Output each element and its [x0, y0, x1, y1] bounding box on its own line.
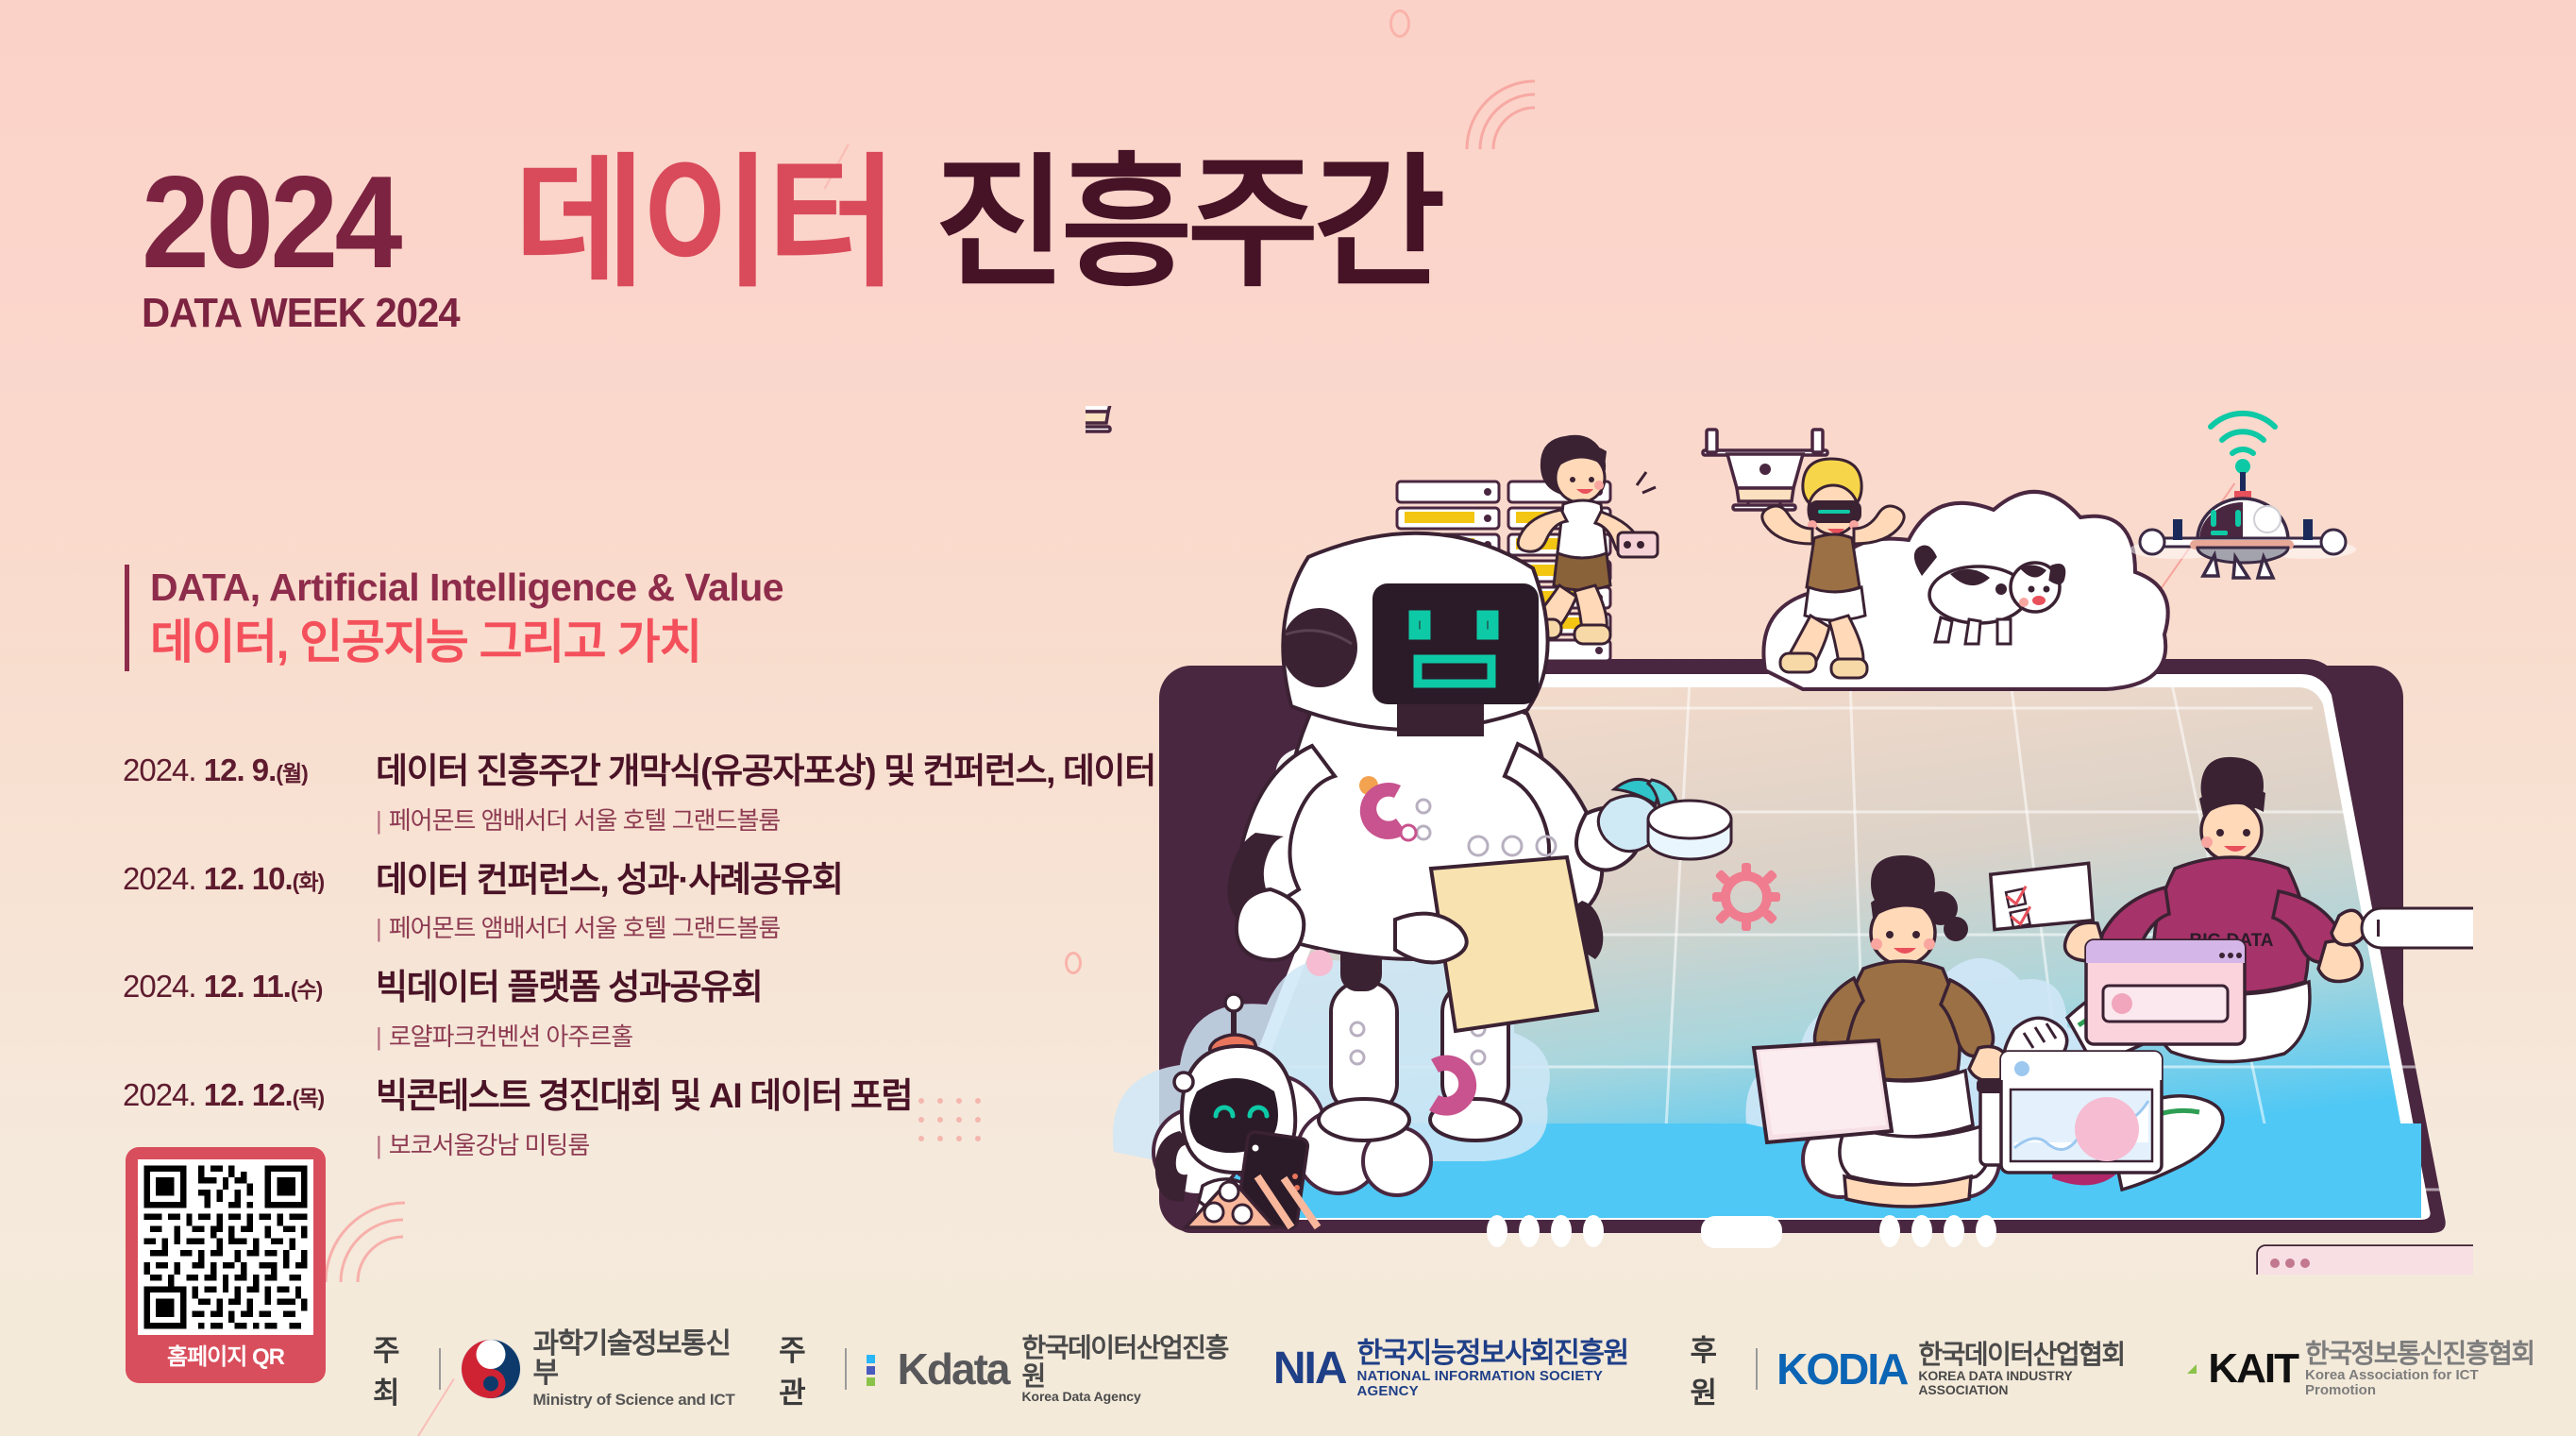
footer-organizer-role: 주관 [779, 1326, 830, 1411]
schedule-date-year: 2024. [123, 861, 204, 896]
footer-sponsor-group: 후원 KODIA 한국데이터산업협회 KOREA DATA INDUSTRY A… [1691, 1326, 2576, 1411]
schedule-date-dow: (목) [293, 1086, 324, 1110]
cloud-disk-icon [1648, 801, 1731, 859]
tablet-controls[interactable] [1487, 1215, 1996, 1248]
footer-organizer-group: 주관 Kdata 한국데이터산업진흥원 Korea Data Agency NI… [779, 1326, 1690, 1411]
schedule-date: 2024. 12. 9.(월) [123, 751, 376, 788]
logo-kait-wordmark: KAIT [2208, 1345, 2298, 1393]
schedule-date-day: 11. [252, 969, 291, 1004]
venue-bar-icon: | [376, 914, 381, 942]
schedule-date-dow: (화) [293, 870, 324, 894]
logo-nia-wordmark: NIA [1273, 1343, 1346, 1394]
logo-mosict[interactable]: 과학기술정보통신부 Ministry of Science and ICT [460, 1329, 748, 1410]
schedule-date-day: 12. [252, 1077, 293, 1112]
poster-canvas: 2024 DATA WEEK 2024 데이터 진흥주간 DATA, Artif… [0, 0, 2576, 1436]
logo-nia[interactable]: NIA 한국지능정보사회진흥원 NATIONAL INFORMATION SOC… [1273, 1339, 1658, 1399]
footer-divider [439, 1348, 441, 1390]
schedule-date-month: 12. [204, 969, 252, 1004]
taegeuk-icon [460, 1338, 522, 1400]
footer-sponsor-role: 후원 [1691, 1326, 1742, 1411]
footer-divider [1756, 1348, 1758, 1390]
footer-host-role: 주최 [373, 1326, 424, 1411]
subtitle-english: DATA, Artificial Intelligence & Value [150, 565, 783, 610]
logo-kodia[interactable]: KODIA 한국데이터산업협회 KOREA DATA INDUSTRY ASSO… [1776, 1341, 2155, 1396]
logo-nia-kr: 한국지능정보사회진흥원 [1357, 1339, 1658, 1369]
schedule-date-month: 12. [204, 861, 252, 896]
schedule-date-year: 2024. [123, 1077, 204, 1112]
schedule-date-day: 9. [252, 752, 277, 787]
headline-word-data: 데이터 [514, 152, 893, 296]
deco-arcs-top [1444, 38, 1567, 160]
schedule-date: 2024. 12. 10.(화) [123, 859, 376, 897]
logo-mosict-kr: 과학기술정보통신부 [533, 1329, 748, 1390]
venue-bar-icon: | [376, 1022, 381, 1051]
logo-mosict-en: Ministry of Science and ICT [533, 1392, 748, 1409]
logo-kdata-en: Korea Data Agency [1021, 1390, 1240, 1404]
ui-window-pink [2086, 940, 2245, 1044]
logo-kdata-wordmark: Kdata [898, 1343, 1009, 1394]
headline-word-week: 진흥주간 [934, 152, 1440, 296]
logo-kait-kr: 한국정보통신진흥협회 [2305, 1340, 2544, 1368]
headline-year-subtitle: DATA WEEK 2024 [142, 290, 460, 337]
deco-ring-1 [1389, 9, 1410, 38]
package-drone-icon [1086, 406, 1129, 431]
subtitle-korean: 데이터, 인공지능 그리고 가치 [150, 614, 783, 671]
schedule-venue-text: 페어몬트 앰배서더 서울 호텔 그랜드볼룸 [389, 806, 781, 835]
schedule-date-dow: (월) [276, 761, 307, 786]
schedule-date-month: 12. [204, 1077, 252, 1112]
qr-label: 홈페이지 QR [138, 1335, 313, 1380]
footer-divider [845, 1348, 847, 1390]
schedule-date-dow: (수) [291, 977, 322, 1002]
footer-logos: 주최 과학기술정보통신부 Ministry of Science and ICT… [373, 1324, 2576, 1414]
qr-code-icon[interactable] [138, 1159, 313, 1335]
ui-window-bigdata: BIG DATA [2258, 1246, 2473, 1275]
kdata-dots-icon [866, 1345, 886, 1393]
logo-kodia-en: KOREA DATA INDUSTRY ASSOCIATION [1918, 1369, 2155, 1397]
deco-arcs-qr [316, 1169, 439, 1292]
homepage-qr-card[interactable]: 홈페이지 QR [126, 1147, 326, 1383]
schedule-date: 2024. 12. 12.(목) [123, 1075, 376, 1113]
logo-kodia-kr: 한국데이터산업협회 [1918, 1341, 2155, 1369]
logo-nia-en: NATIONAL INFORMATION SOCIETY AGENCY [1357, 1369, 1658, 1399]
schedule-venue-text: 로얄파크컨벤션 아주르홀 [389, 1022, 632, 1051]
kait-leaf-icon [2187, 1364, 2197, 1374]
venue-bar-icon: | [376, 1131, 381, 1159]
schedule-date-year: 2024. [123, 752, 204, 787]
schedule-venue-text: 페어몬트 앰배서더 서울 호텔 그랜드볼룸 [389, 914, 781, 942]
robot-head [1282, 533, 1548, 736]
flying-drone [2130, 414, 2356, 578]
wifi-signal-icon [2211, 414, 2275, 453]
search-bar[interactable] [2362, 908, 2473, 948]
schedule-date-day: 10. [252, 861, 293, 896]
venue-bar-icon: | [376, 806, 381, 835]
headline: 2024 DATA WEEK 2024 데이터 진흥주간 [142, 165, 1440, 337]
logo-kait[interactable]: KAIT 한국정보통신진흥협회 Korea Association for IC… [2187, 1340, 2544, 1397]
schedule-date-year: 2024. [123, 969, 204, 1004]
logo-kdata[interactable]: Kdata 한국데이터산업진흥원 Korea Data Agency [866, 1334, 1241, 1404]
logo-kait-en: Korea Association for ICT Promotion [2305, 1368, 2544, 1398]
headline-year: 2024 [142, 165, 453, 280]
schedule-date: 2024. 12. 11.(수) [123, 967, 376, 1005]
illustration-scene: BIG DATA [1086, 406, 2473, 1275]
subtitle-block: DATA, Artificial Intelligence & Value 데이… [125, 565, 783, 671]
logo-kodia-wordmark: KODIA [1776, 1343, 1907, 1394]
schedule-date-month: 12. [204, 752, 252, 787]
footer-host-group: 주최 과학기술정보통신부 Ministry of Science and ICT [373, 1326, 779, 1411]
schedule-venue-text: 보코서울강남 미팅룸 [389, 1131, 590, 1159]
logo-kdata-kr: 한국데이터산업진흥원 [1021, 1334, 1240, 1390]
